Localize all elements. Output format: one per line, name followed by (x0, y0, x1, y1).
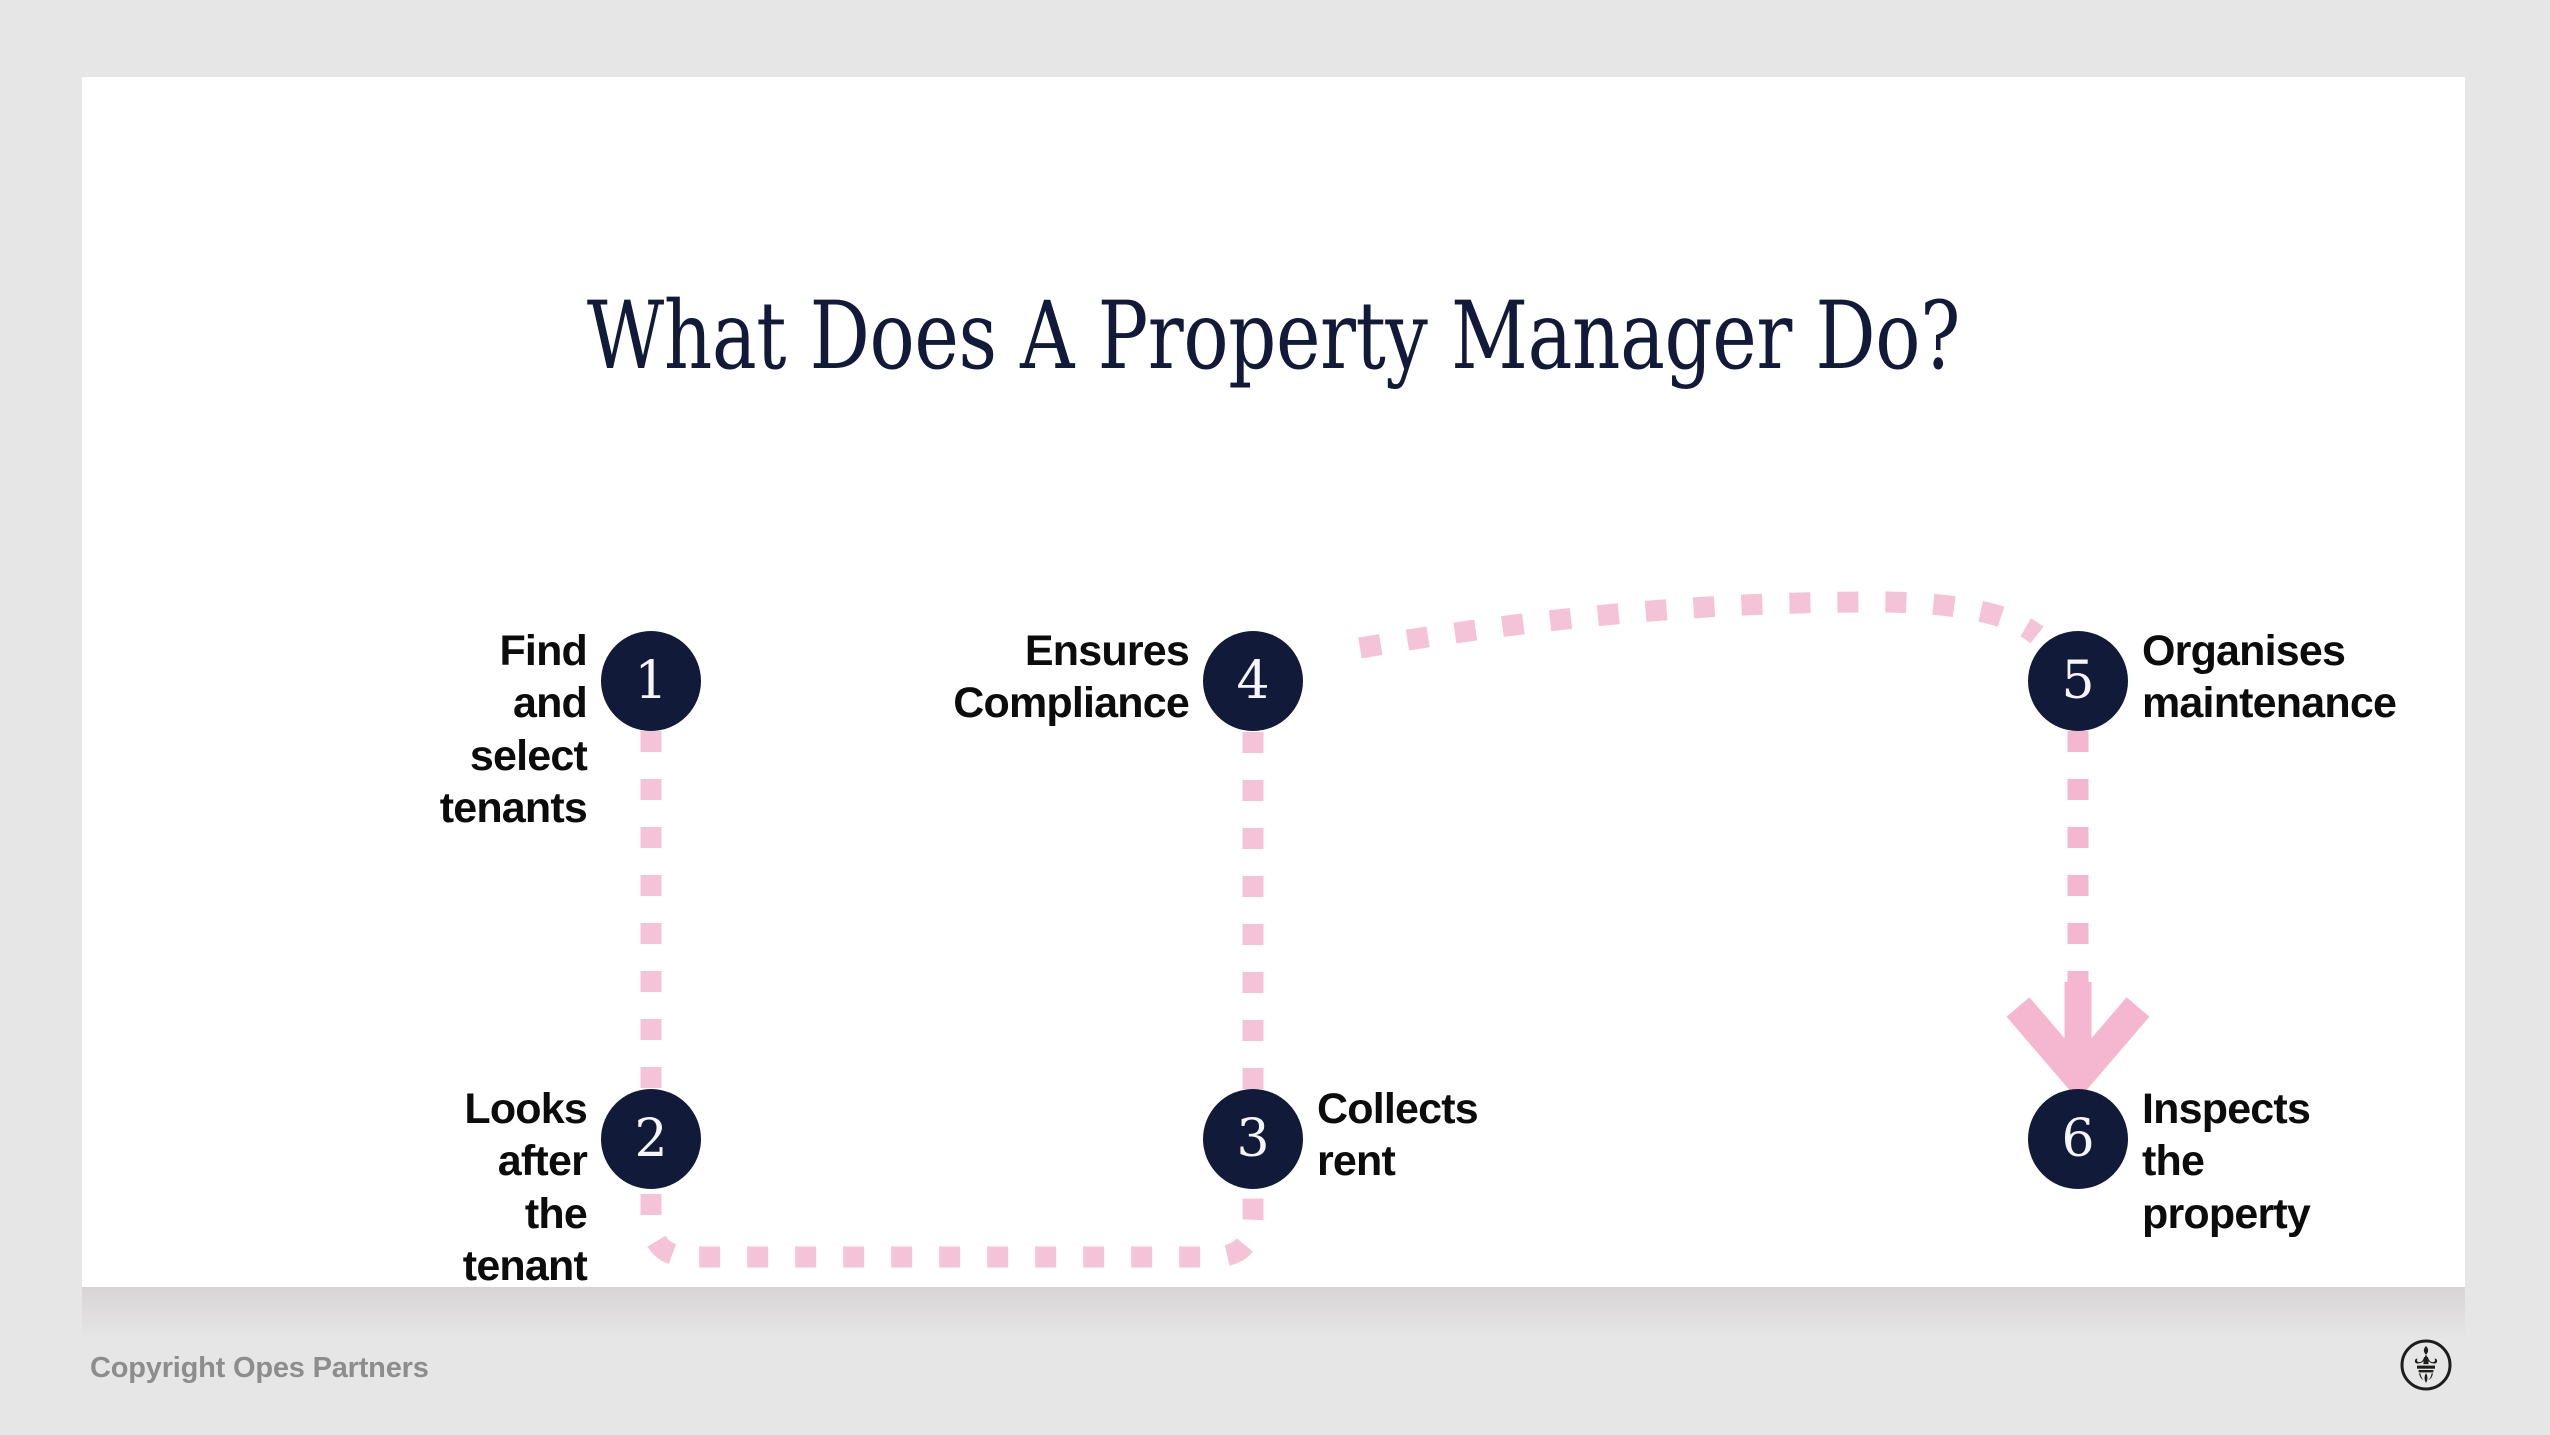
connector-2-to-3 (651, 1194, 1253, 1257)
slide-stage: What Does A Property Manager Do? Fin (0, 0, 2550, 1435)
step-label-1: Find and select tenants (440, 625, 587, 835)
step-number-2: 2 (601, 1089, 701, 1189)
step-label-2: Looks after the tenant (463, 1083, 587, 1293)
slide-card-shadow (82, 1287, 2465, 1339)
fleur-de-lis-logo (2398, 1337, 2454, 1393)
process-diagram: Find and select tenants 1 Looks after th… (82, 77, 2465, 1287)
step-number-3: 3 (1203, 1089, 1303, 1189)
slide-card: What Does A Property Manager Do? Fin (82, 77, 2465, 1287)
step-number-1: 1 (601, 631, 701, 731)
step-number-6: 6 (2028, 1089, 2128, 1189)
step-label-4: Ensures Compliance (953, 625, 1189, 730)
step-number-4: 4 (1203, 631, 1303, 731)
step-label-6: Inspects the property (2142, 1083, 2310, 1240)
footer-copyright: Copyright Opes Partners (90, 1352, 429, 1385)
step-label-3: Collects rent (1317, 1083, 1478, 1188)
step-number-5: 5 (2028, 631, 2128, 731)
connector-4-to-5 (1360, 602, 2037, 648)
step-label-5: Organises maintenance (2142, 625, 2396, 730)
